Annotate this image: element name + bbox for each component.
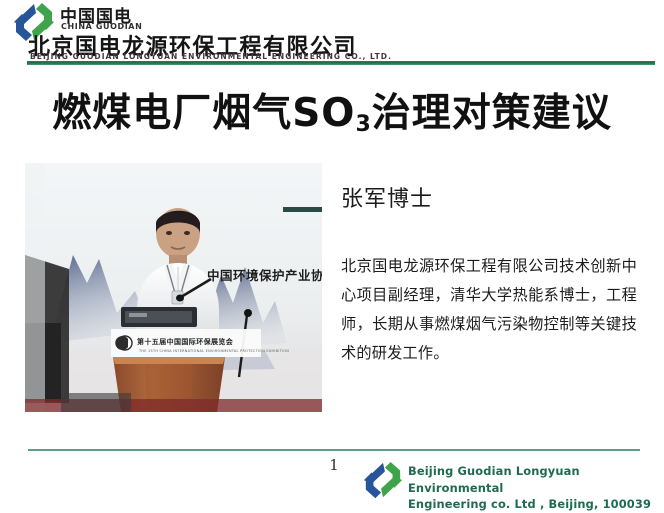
guodian-interlock-logo-icon: [362, 461, 404, 499]
speaker-bio: 北京国电龙源环保工程有限公司技术创新中心项目副经理，清华大学热能系博士，工程师，…: [341, 252, 637, 368]
footer-company-address: Beijing Guodian Longyuan Environmental E…: [408, 463, 664, 513]
header-divider: [27, 61, 655, 65]
page-title: 燃煤电厂烟气SO3治理对策建议: [0, 82, 664, 138]
company-name-en: BEIJING GUODIAN LONGYUAN ENVIRONMENTAL E…: [30, 52, 392, 61]
speaker-name: 张军博士: [341, 181, 433, 213]
title-part-2: 治理对策建议: [372, 91, 612, 136]
svg-text:THE 15TH CHINA INTERNATIONAL E: THE 15TH CHINA INTERNATIONAL ENVIRONMENT…: [138, 349, 289, 353]
svg-text:中国环境保护产业协会: 中国环境保护产业协会: [207, 268, 322, 283]
svg-text:第十五届中国国际环保展览会: 第十五届中国国际环保展览会: [137, 337, 234, 346]
title-subscript: 3: [355, 112, 371, 137]
footer-divider: [28, 449, 640, 451]
speaker-photo: 中国环境保护产业协会 第十五届中国国际环保展览会 THE 15TH CHINA …: [25, 163, 322, 412]
page-number: 1: [322, 456, 346, 474]
title-part-1: 燃煤电厂烟气SO: [52, 91, 355, 136]
slide-header: 中国国电 CHINA GUODIAN 北京国电龙源环保工程有限公司 BEIJIN…: [0, 0, 664, 70]
footer-line-1: Beijing Guodian Longyuan Environmental: [408, 463, 664, 496]
footer-line-2: Engineering co. Ltd , Beijing, 100039: [408, 496, 664, 513]
